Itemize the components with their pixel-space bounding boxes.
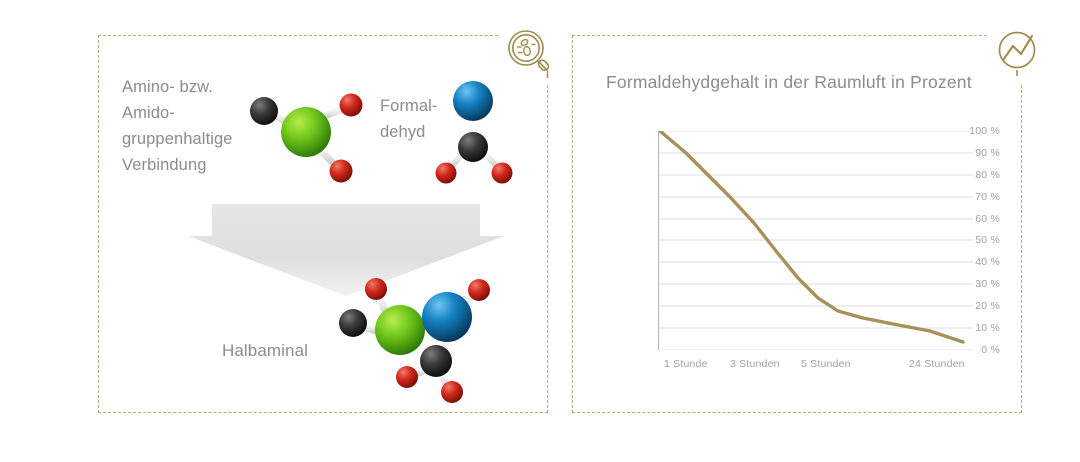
gridlines [658, 131, 973, 350]
chart-area: 100 % 90 % 80 % 70 % 60 % 50 % 40 % 30 %… [600, 120, 1000, 380]
chart-title: Formaldehydgehalt in der Raumluft in Pro… [606, 72, 972, 93]
xtick-1-stunde: 1 Stunde [664, 358, 708, 370]
product-halbaminal-label: Halbaminal [222, 338, 308, 364]
formaldehyde-molecule [436, 72, 526, 187]
xtick-24-stunden: 24 Stunden [909, 358, 965, 370]
xtick-3-stunden: 3 Stunden [730, 358, 780, 370]
trend-circle-icon [988, 22, 1050, 84]
plot-region [658, 131, 973, 350]
xtick-5-stunden: 5 Stunden [801, 358, 851, 370]
infographic-stage: Amino- bzw. Amido- gruppenhaltige Verbin… [0, 0, 1080, 462]
amine-molecule [238, 80, 378, 195]
formaldehyd-curve [660, 131, 963, 342]
halbaminal-molecule [326, 272, 511, 407]
line-chart-svg [658, 131, 973, 350]
